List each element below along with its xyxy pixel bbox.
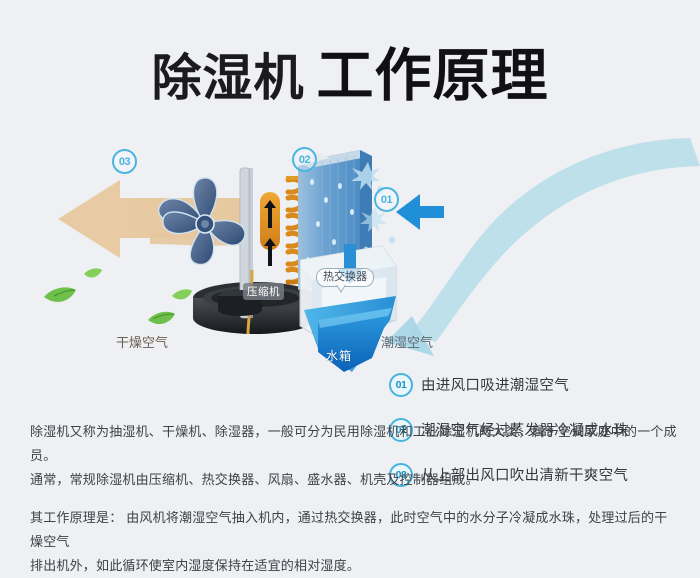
callout-pointer-icon (336, 285, 346, 293)
humid-air-arc-arrow (386, 138, 700, 356)
paragraph-spacer (30, 492, 680, 506)
paragraph-1-line-1: 除湿机又称为抽湿机、干燥机、除湿器，一般可分为民用除湿机和工业除湿机两大类，属于… (30, 420, 680, 468)
step-badge-01: 01 (389, 373, 413, 397)
dry-air-arrow (58, 180, 250, 258)
label-dry-air: 干燥空气 (116, 332, 168, 351)
paragraph-2-line-1: 其工作原理是： 由风机将潮湿空气抽入机内，通过热交换器，此时空气中的水分子冷凝成… (30, 506, 680, 554)
intake-arrow (396, 194, 444, 230)
page-root: 除湿机工作原理 (0, 0, 700, 566)
list-item: 01 由进风口吸进潮湿空气 (389, 372, 689, 397)
page-title: 除湿机工作原理 (0, 30, 700, 112)
page-title-part2: 工作原理 (317, 44, 549, 108)
diagram-badge-02: 02 (292, 147, 317, 172)
paragraph-1-line-2: 通常，常规除湿机由压缩机、热交换器、风扇、盛水器、机壳及控制器组成。 (30, 468, 680, 492)
paragraph-2-line-2: 排出机外，如此循环使室内湿度保持在适宜的相对湿度。 (30, 554, 680, 578)
label-compressor: 压缩机 (243, 283, 284, 300)
leaf-icon-group (44, 268, 192, 324)
dehumidifier-diagram: 03 02 01 干燥空气 潮湿空气 热交换器 压缩机 水箱 01 由进风口吸进… (0, 120, 700, 390)
fan-icon (159, 178, 245, 265)
description-copy: 除湿机又称为抽湿机、干燥机、除湿器，一般可分为民用除湿机和工业除湿机两大类，属于… (30, 420, 680, 578)
label-humid-air: 潮湿空气 (381, 332, 433, 351)
step-text-01: 由进风口吸进潮湿空气 (421, 374, 569, 395)
label-water-tank: 水箱 (326, 347, 352, 364)
diagram-badge-03: 03 (112, 149, 137, 174)
page-title-part1: 除湿机 (152, 50, 305, 106)
diagram-badge-01: 01 (374, 187, 399, 212)
